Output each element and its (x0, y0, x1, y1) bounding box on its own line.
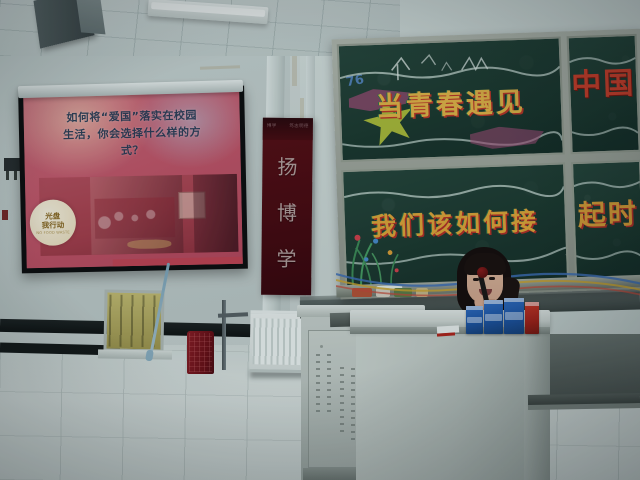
box-top-flap (484, 300, 503, 304)
projection-screen: 如何将“爱国”落实在校园 生活，你会选择什么样的方 式？ 光盘 我行动 NO F… (18, 86, 248, 274)
slide-heading: 如何将“爱国”落实在校园 生活，你会选择什么样的方 式？ (32, 106, 233, 161)
box-label-band (505, 312, 523, 320)
microphone-head-icon (477, 267, 488, 278)
vent-slots (340, 364, 344, 432)
lectern-inner-cavity (543, 334, 640, 396)
wall-bracket-arm (6, 171, 9, 180)
vent-slots (327, 352, 331, 412)
speaker-grille (75, 0, 105, 34)
photo-dark-edge (193, 174, 238, 253)
chalk-wave-icon (572, 124, 639, 142)
box-label-band (485, 314, 502, 321)
blackboard-headline-upper: 当青春遇见 (340, 79, 561, 126)
banner-char-3: 学 (261, 236, 311, 283)
projected-image: 如何将“爱国”落实在校园 生活，你会选择什么样的方 式？ 光盘 我行动 NO F… (23, 90, 243, 268)
lectern-front-panel (356, 316, 541, 480)
blackboard-headline-lower: 我们该如何接 (344, 200, 565, 244)
badge-line-1: 光盘 (45, 211, 60, 220)
wall-pipe (222, 300, 226, 370)
banner-subtext-left: 博学 (267, 123, 277, 129)
bin-mesh-pattern (189, 333, 212, 372)
blue-box[interactable] (484, 300, 503, 334)
vent-slots (316, 352, 320, 412)
wall-banner: 博学 笃志明德 扬 博 学 (261, 118, 313, 296)
blackboard-headline-upper-right: 中国 (569, 58, 636, 104)
blackboard-row-upper: 76 (337, 34, 640, 162)
eye (489, 277, 495, 280)
box-top-flap (525, 302, 539, 306)
wall-bracket (4, 158, 20, 171)
chalk-bird-icon (383, 48, 454, 86)
banner-subtext-right: 笃志明德 (289, 123, 309, 129)
blackboard-panel-upper-left: 76 (337, 36, 565, 162)
banner-subtext: 博学 笃志明德 (267, 123, 309, 129)
chalk-butterfly-icon (451, 51, 498, 83)
chalk-wave-icon (576, 248, 640, 266)
banner-char-2: 博 (262, 190, 312, 237)
classroom-scene: 如何将“爱国”落实在校园 生活，你会选择什么样的方 式？ 光盘 我行动 NO F… (0, 0, 640, 480)
blackboard-panel-upper-right: 中国 (567, 34, 640, 154)
blackboard-headline-lower-right: 起时 (574, 192, 640, 234)
photo-people-group (95, 197, 175, 239)
badge-line-2: 我行动 (42, 220, 65, 229)
box-top-flap (466, 306, 483, 310)
window-sill (98, 349, 172, 359)
vent-slots (351, 368, 355, 440)
blue-box[interactable] (504, 298, 524, 334)
trash-bin (187, 331, 214, 374)
wall-socket (2, 210, 8, 220)
slide-background: 如何将“爱国”落实在校园 生活，你会选择什么样的方 式？ 光盘 我行动 NO F… (23, 90, 243, 268)
banner-char-1: 扬 (262, 144, 312, 191)
blackboard-panel-lower-right: 起时 (571, 160, 640, 280)
wall-bracket-arm (14, 171, 17, 180)
blue-box[interactable] (466, 306, 483, 334)
banner-characters: 扬 博 学 (261, 144, 312, 283)
badge-line-3: NO FOOD WASTE (36, 230, 70, 235)
banner-header: 博学 笃志明德 (263, 118, 313, 141)
box-label-band (467, 317, 482, 323)
slide-bottom-bar (113, 257, 243, 267)
red-box[interactable] (525, 302, 539, 334)
screw (320, 345, 323, 348)
box-top-flap (504, 298, 524, 302)
